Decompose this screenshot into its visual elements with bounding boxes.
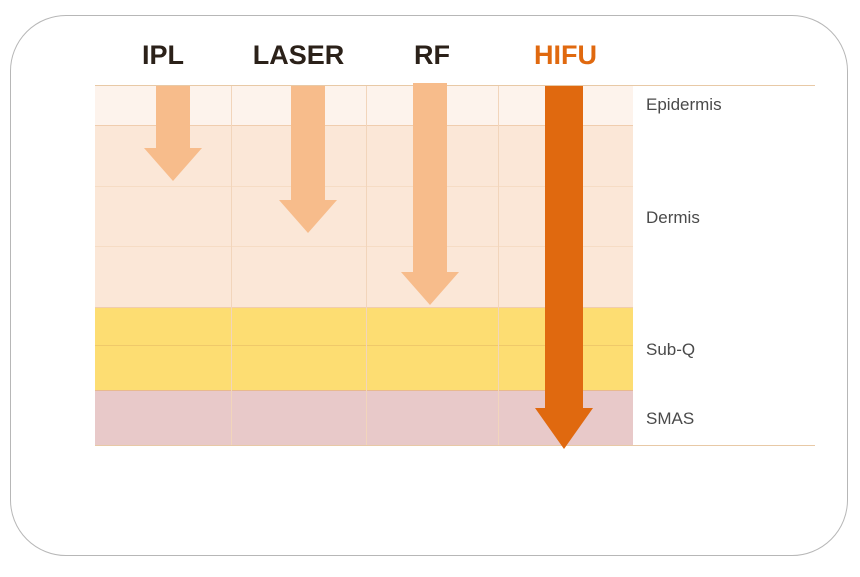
modality-label-hifu: HIFU: [498, 38, 633, 72]
gridline-vertical: [231, 86, 232, 445]
layer-label-epidermis: Epidermis: [646, 96, 722, 113]
gridline-vertical: [366, 86, 367, 445]
ipl-arrow: [143, 86, 203, 182]
penetration-depth-figure: IPL LASER RF HIFU Epidermis Dermis Sub-Q…: [0, 0, 860, 577]
layer-label-smas: SMAS: [646, 410, 694, 427]
rf-arrow: [400, 83, 460, 306]
layer-label-subq: Sub-Q: [646, 341, 695, 358]
axis-rule-bottom: [95, 445, 815, 446]
hifu-arrow: [534, 86, 594, 450]
layer-label-dermis: Dermis: [646, 209, 700, 226]
modality-label-ipl: IPL: [95, 38, 231, 72]
modality-label-rf: RF: [366, 38, 498, 72]
modality-label-laser: LASER: [231, 38, 366, 72]
laser-arrow: [278, 86, 338, 234]
gridline-vertical: [498, 86, 499, 445]
